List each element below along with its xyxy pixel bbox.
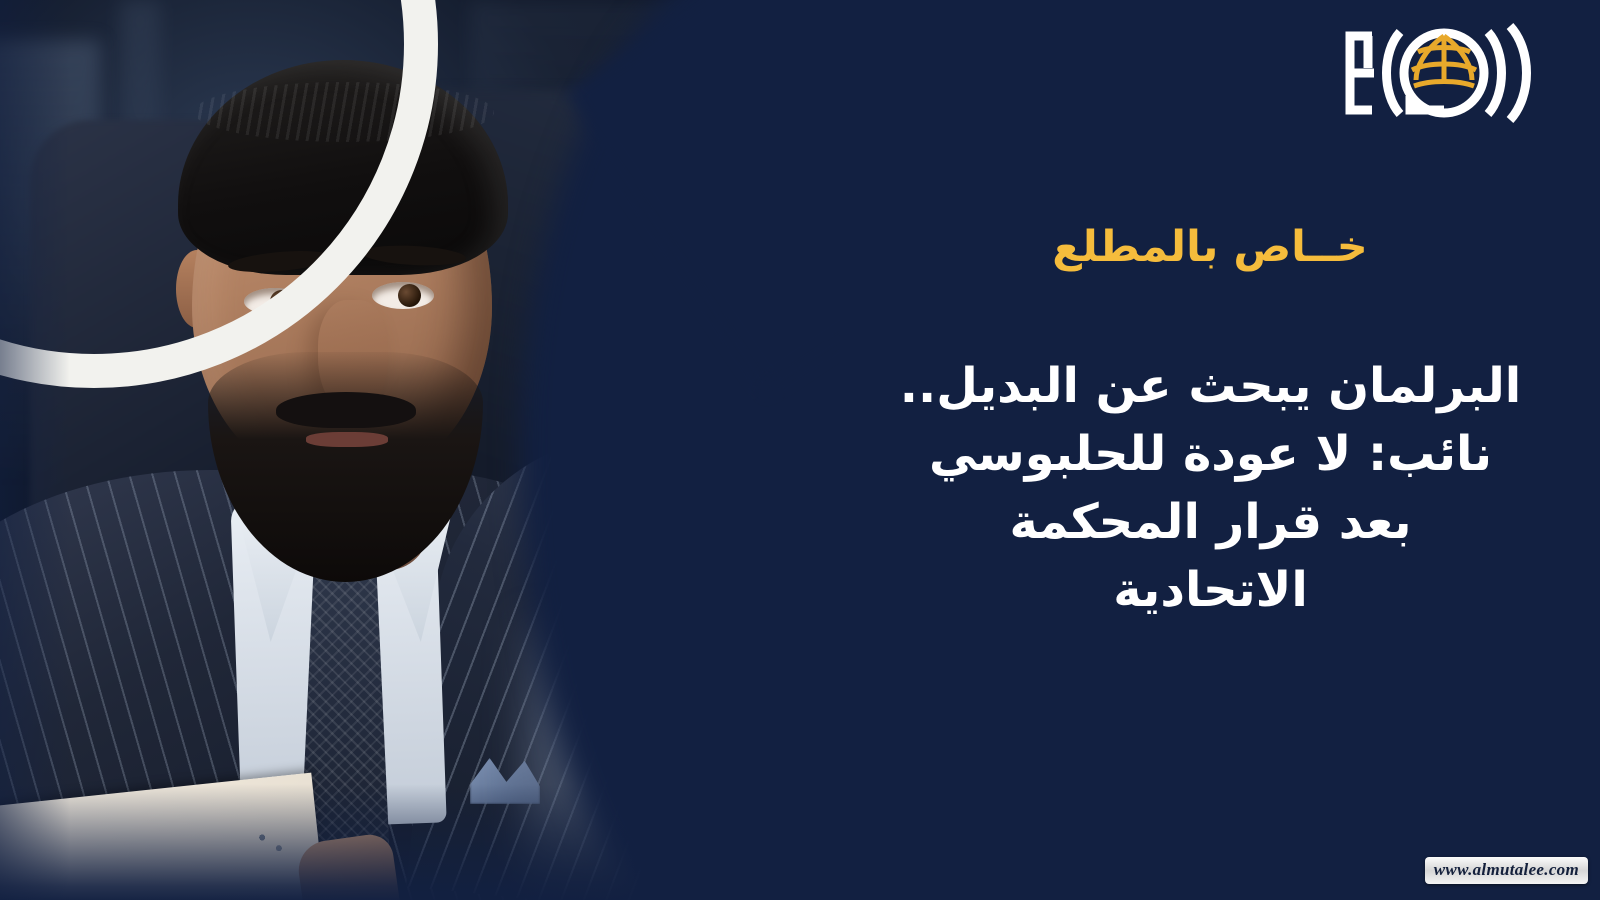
headline-line: البرلمان يبحث عن البديل.. (883, 352, 1538, 420)
globe-parentheses-logo-icon (1338, 18, 1538, 128)
site-watermark: www.almutalee.com (1425, 857, 1588, 884)
headline-panel: خــاص بالمطلع البرلمان يبحث عن البديل.. … (840, 0, 1600, 900)
headline-line: نائب: لا عودة للحلبوسي (883, 420, 1538, 488)
pupil-right (398, 284, 421, 307)
exclusive-kicker: خــاص بالمطلع (910, 222, 1510, 272)
news-card: خــاص بالمطلع البرلمان يبحث عن البديل.. … (0, 0, 1600, 900)
mustache (276, 392, 416, 428)
headline-text: البرلمان يبحث عن البديل.. نائب: لا عودة … (883, 352, 1538, 625)
photo-bottom-fade (0, 784, 840, 900)
headline-line: بعد قرار المحكمة (883, 488, 1538, 556)
photo-left-shade (0, 0, 70, 900)
headline-line: الاتحادية (883, 556, 1538, 624)
lips (306, 432, 388, 447)
subject-photo (0, 0, 840, 900)
